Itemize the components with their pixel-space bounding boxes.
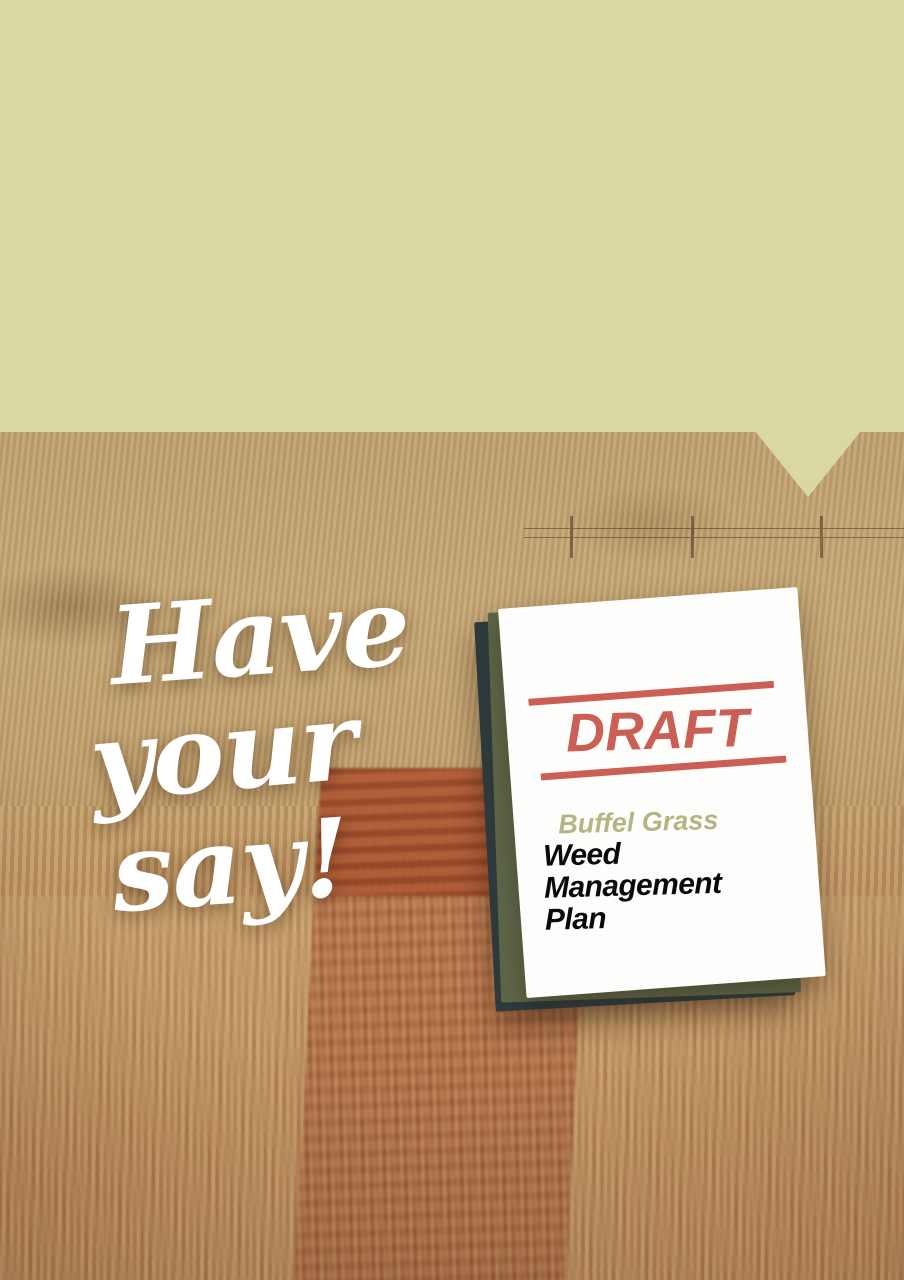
have-your-say-callout: Have your say! (96, 588, 410, 914)
header-band (0, 0, 904, 432)
draft-stamp: DRAFT (528, 686, 786, 776)
card-front-document: DRAFT Buffel Grass Weed Management Plan (498, 587, 826, 998)
callout-line-1: Have (107, 578, 413, 698)
callout-line-2: your (86, 688, 413, 815)
header-notch-triangle (755, 431, 861, 497)
callout-line-3: say! (109, 804, 413, 924)
draft-stamp-text: DRAFT (529, 699, 787, 763)
document-titles: Buffel Grass Weed Management Plan (538, 804, 797, 937)
poster-root: Draft Buffel Grass Weed Management Plan … (0, 0, 904, 1280)
document-subtitle: Buffel Grass (542, 804, 795, 839)
document-card-stack: DRAFT Buffel Grass Weed Management Plan (478, 600, 778, 990)
document-title-line-3: Plan (545, 898, 798, 937)
